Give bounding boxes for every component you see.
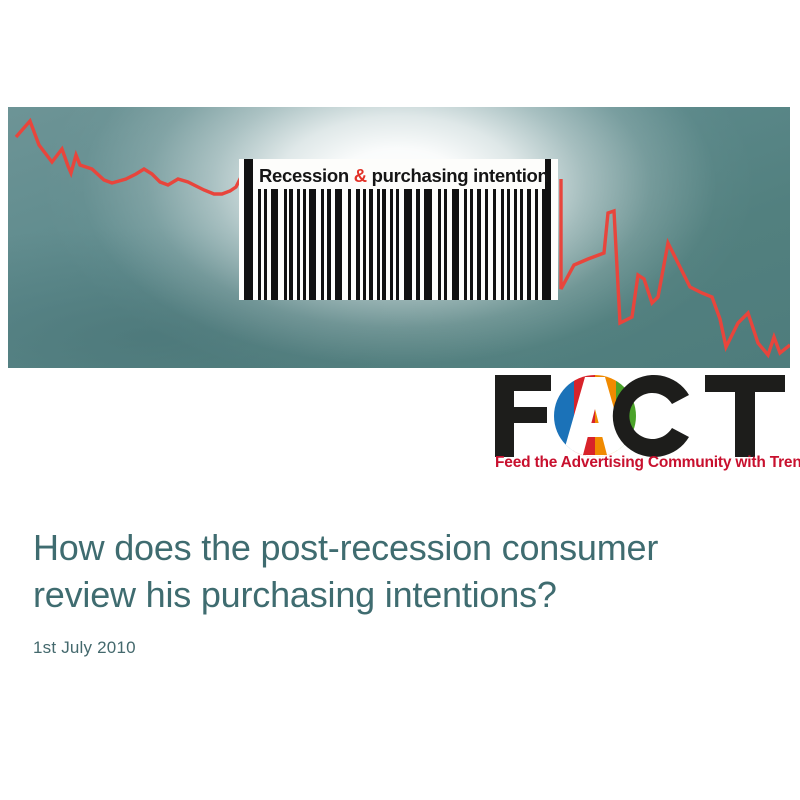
barcode-label-prefix: Recession bbox=[259, 165, 354, 186]
publish-date: 1st July 2010 bbox=[33, 638, 763, 658]
logo-letter-t bbox=[705, 375, 785, 457]
page-title: How does the post-recession consumer rev… bbox=[33, 524, 763, 618]
fact-logo: Feed the Advertising Community with Tren… bbox=[489, 371, 791, 479]
logo-letter-f bbox=[495, 375, 551, 457]
barcode-graphic: Recession & purchasing intention bbox=[239, 159, 558, 300]
trendline-right bbox=[561, 179, 790, 355]
barcode-label-ampersand: & bbox=[354, 165, 367, 186]
barcode-label: Recession & purchasing intention bbox=[259, 162, 549, 190]
barcode-label-suffix: purchasing intention bbox=[367, 165, 549, 186]
title-block: How does the post-recession consumer rev… bbox=[33, 524, 763, 658]
logo-tagline: Feed the Advertising Community with Tren… bbox=[495, 453, 791, 473]
trendline-left bbox=[16, 121, 244, 262]
